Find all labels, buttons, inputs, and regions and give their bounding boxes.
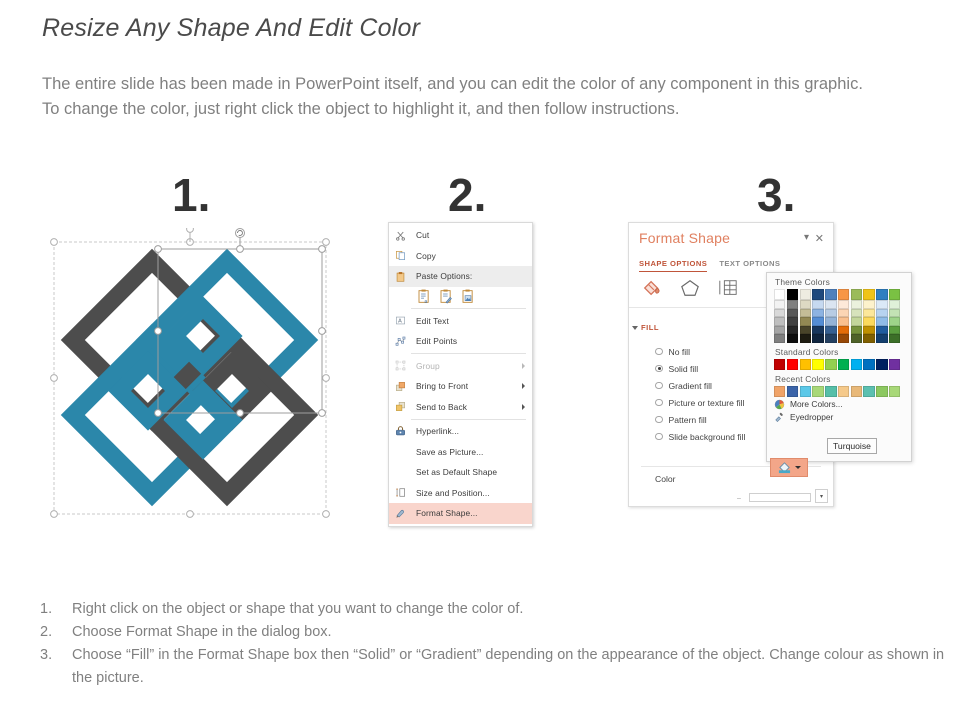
svg-text:A: A [398, 319, 402, 325]
theme-shade-0-0[interactable] [774, 300, 785, 309]
instruction-text: Choose Format Shape in the dialog box. [72, 621, 945, 644]
menu-label: Size and Position... [409, 488, 528, 498]
option-label: No fill [669, 347, 691, 357]
submenu-arrow-icon [522, 363, 525, 369]
weave-accent-top [175, 308, 232, 365]
menu-label: Edit Points [409, 336, 528, 346]
radio-picture-or-texture-fill[interactable]: Picture or texture fill [655, 394, 745, 411]
diamonds-svg [40, 228, 340, 528]
theme-swatch-4[interactable] [825, 289, 836, 300]
menu-label: Copy [409, 251, 528, 261]
menu-label: Save as Picture... [409, 447, 528, 457]
theme-shade-4-8[interactable] [876, 334, 887, 343]
menu-label: Group [409, 361, 522, 371]
theme-shade-4-6[interactable] [851, 334, 862, 343]
svg-text:a: a [424, 299, 427, 304]
instruction-item: 1. Right click on the object or shape th… [40, 598, 945, 621]
menu-label: Hyperlink... [409, 426, 528, 436]
theme-swatch-3[interactable] [812, 289, 823, 300]
menu-item-format-shape[interactable]: Format Shape... [389, 503, 532, 524]
theme-shade-3-4[interactable] [825, 326, 836, 335]
theme-shade-2-8[interactable] [876, 317, 887, 326]
intro-paragraph: The entire slide has been made in PowerP… [42, 72, 882, 122]
submenu-arrow-icon [522, 404, 525, 410]
color-tooltip: Turquoise [827, 438, 877, 454]
pane-icon-row[interactable] [641, 278, 739, 298]
more-colors-item[interactable]: More Colors... [767, 397, 911, 410]
send-back-icon [392, 400, 409, 414]
none-icon [392, 445, 409, 459]
menu-item-bring-to-front[interactable]: Bring to Front [389, 376, 532, 397]
option-label: Pattern fill [669, 415, 707, 425]
radio-icon[interactable] [655, 416, 663, 424]
weave-accent-left [120, 363, 177, 420]
theme-swatch-0[interactable] [774, 289, 785, 300]
theme-shade-row-3[interactable] [767, 326, 911, 335]
theme-shade-1-7[interactable] [863, 309, 874, 318]
theme-shade-0-6[interactable] [851, 300, 862, 309]
menu-item-edit-points[interactable]: Edit Points [389, 331, 532, 352]
theme-shade-3-1[interactable] [787, 326, 798, 335]
color-wheel-icon [774, 399, 785, 410]
standard-colors-heading: Standard Colors [767, 343, 911, 359]
theme-swatch-5[interactable] [838, 289, 849, 300]
theme-shade-4-2[interactable] [800, 334, 811, 343]
radio-no-fill[interactable]: No fill [655, 343, 745, 360]
radio-icon-selected[interactable] [655, 365, 663, 373]
theme-shade-0-9[interactable] [889, 300, 900, 309]
pentagon-effects-icon[interactable] [680, 278, 700, 298]
instruction-item: 2. Choose Format Shape in the dialog box… [40, 621, 945, 644]
weave-accent-bottom [175, 392, 232, 449]
recent-colors-row[interactable] [767, 386, 911, 397]
group-icon [392, 359, 409, 373]
outer-rotate-handle-icon[interactable] [187, 228, 194, 232]
menu-item-edit-text[interactable]: A Edit Text [389, 311, 532, 332]
slider-min-tick: – [737, 495, 741, 502]
copy-icon [392, 249, 409, 263]
radio-pattern-fill[interactable]: Pattern fill [655, 411, 745, 428]
theme-shade-1-1[interactable] [787, 309, 798, 318]
radio-icon[interactable] [655, 348, 663, 356]
standard-swatch-3[interactable] [812, 359, 823, 370]
standard-swatch-5[interactable] [838, 359, 849, 370]
theme-shade-0-1[interactable] [787, 300, 798, 309]
theme-shade-3-8[interactable] [876, 326, 887, 335]
fill-options-group[interactable]: No fill Solid fill Gradient fill Picture… [655, 343, 745, 445]
theme-colors-heading: Theme Colors [767, 273, 911, 289]
menu-label: Cut [409, 230, 528, 240]
radio-icon[interactable] [655, 399, 663, 407]
theme-shade-0-4[interactable] [825, 300, 836, 309]
theme-shade-1-4[interactable] [825, 309, 836, 318]
theme-shade-3-3[interactable] [812, 326, 823, 335]
hyperlink-icon [392, 424, 409, 438]
radio-icon[interactable] [655, 433, 663, 441]
submenu-arrow-icon [522, 383, 525, 389]
step-number-2: 2. [448, 168, 486, 222]
theme-shade-4-5[interactable] [838, 334, 849, 343]
scissors-icon [392, 228, 409, 242]
menu-separator [411, 308, 526, 309]
theme-shade-4-1[interactable] [787, 334, 798, 343]
paste-keep-source-icon[interactable]: a [417, 289, 431, 304]
option-label: Gradient fill [669, 381, 712, 391]
pane-tabs[interactable]: SHAPE OPTIONS TEXT OPTIONS [639, 259, 780, 272]
theme-shade-2-4[interactable] [825, 317, 836, 326]
step-number-3: 3. [757, 168, 795, 222]
theme-shade-1-8[interactable] [876, 309, 887, 318]
menu-item-save-as-picture[interactable]: Save as Picture... [389, 442, 532, 463]
theme-shade-1-6[interactable] [851, 309, 862, 318]
standard-swatch-2[interactable] [800, 359, 811, 370]
paste-picture-icon[interactable] [461, 289, 475, 304]
menu-item-cut[interactable]: Cut [389, 225, 532, 246]
radio-solid-fill[interactable]: Solid fill [655, 360, 745, 377]
radio-gradient-fill[interactable]: Gradient fill [655, 377, 745, 394]
collapse-triangle-icon[interactable] [632, 326, 638, 330]
color-picker-dropdown[interactable]: Theme Colors Standard Colors Recent Colo… [766, 272, 912, 462]
theme-shade-3-0[interactable] [774, 326, 785, 335]
recent-swatch-9[interactable] [889, 386, 900, 397]
theme-swatch-2[interactable] [800, 289, 811, 300]
theme-shade-3-9[interactable] [889, 326, 900, 335]
page-title: Resize Any Shape And Edit Color [42, 14, 420, 43]
menu-item-group[interactable]: Group [389, 356, 532, 377]
eyedropper-icon [774, 412, 785, 423]
menu-label: Edit Text [409, 316, 528, 326]
recent-colors-heading: Recent Colors [767, 370, 911, 386]
bring-front-icon [392, 379, 409, 393]
menu-item-set-as-default-shape[interactable]: Set as Default Shape [389, 462, 532, 483]
menu-item-send-to-back[interactable]: Send to Back [389, 397, 532, 418]
instruction-text: Right click on the object or shape that … [72, 598, 945, 621]
option-label: Slide background fill [669, 432, 746, 442]
menu-label: Bring to Front [409, 381, 522, 391]
theme-shade-1-5[interactable] [838, 309, 849, 318]
step-number-1: 1. [172, 168, 210, 222]
standard-swatch-1[interactable] [787, 359, 798, 370]
theme-shade-row-0[interactable] [767, 300, 911, 309]
eyedropper-item[interactable]: Eyedropper [767, 410, 911, 423]
menu-separator [411, 419, 526, 420]
recent-swatch-2[interactable] [800, 386, 811, 397]
standard-colors-row[interactable] [767, 359, 911, 370]
standard-swatch-6[interactable] [851, 359, 862, 370]
interlocking-diamonds-diagram[interactable] [40, 228, 340, 528]
instruction-index: 1. [40, 598, 72, 621]
clipboard-icon [392, 269, 409, 283]
size-position-icon [392, 486, 409, 500]
radio-icon[interactable] [655, 382, 663, 390]
more-colors-label: More Colors... [790, 399, 843, 409]
transparency-slider[interactable] [749, 493, 811, 502]
color-label: Color [655, 474, 676, 484]
tab-text-options[interactable]: TEXT OPTIONS [719, 259, 780, 272]
standard-swatch-0[interactable] [774, 359, 785, 370]
theme-shade-2-0[interactable] [774, 317, 785, 326]
recent-swatch-5[interactable] [838, 386, 849, 397]
standard-swatch-7[interactable] [863, 359, 874, 370]
recent-swatch-3[interactable] [812, 386, 823, 397]
theme-shade-0-8[interactable] [876, 300, 887, 309]
paste-options-row[interactable]: a [389, 287, 532, 307]
menu-item-hyperlink[interactable]: Hyperlink... [389, 421, 532, 442]
theme-swatch-7[interactable] [863, 289, 874, 300]
theme-shade-2-1[interactable] [787, 317, 798, 326]
standard-swatch-8[interactable] [876, 359, 887, 370]
paste-merge-icon[interactable] [439, 289, 453, 304]
option-label: Picture or texture fill [669, 398, 745, 408]
section-fill-label: FILL [641, 323, 659, 332]
menu-separator [411, 353, 526, 354]
fill-bucket-icon[interactable] [641, 278, 663, 298]
theme-shade-4-3[interactable] [812, 334, 823, 343]
recent-swatch-1[interactable] [787, 386, 798, 397]
instruction-text: Choose “Fill” in the Format Shape box th… [72, 644, 945, 690]
eyedropper-label: Eyedropper [790, 412, 833, 422]
theme-shade-0-2[interactable] [800, 300, 811, 309]
size-properties-icon[interactable] [717, 278, 739, 298]
format-shape-icon [392, 506, 409, 520]
theme-colors-top-row[interactable] [767, 289, 911, 300]
instruction-item: 3. Choose “Fill” in the Format Shape box… [40, 644, 945, 690]
theme-shade-2-3[interactable] [812, 317, 823, 326]
theme-shade-0-5[interactable] [838, 300, 849, 309]
theme-shade-1-2[interactable] [800, 309, 811, 318]
theme-shade-row-2[interactable] [767, 317, 911, 326]
standard-swatch-4[interactable] [825, 359, 836, 370]
radio-slide-background-fill[interactable]: Slide background fill [655, 428, 745, 445]
recent-swatch-4[interactable] [825, 386, 836, 397]
standard-swatch-9[interactable] [889, 359, 900, 370]
pane-title: Format Shape [639, 230, 730, 246]
recent-swatch-6[interactable] [851, 386, 862, 397]
theme-shade-3-2[interactable] [800, 326, 811, 335]
theme-shade-2-5[interactable] [838, 317, 849, 326]
menu-item-copy[interactable]: Copy [389, 246, 532, 267]
theme-shade-row-1[interactable] [767, 309, 911, 318]
theme-shade-2-9[interactable] [889, 317, 900, 326]
theme-swatch-9[interactable] [889, 289, 900, 300]
menu-label: Send to Back [409, 402, 522, 412]
theme-shade-row-4[interactable] [767, 334, 911, 343]
theme-shade-4-9[interactable] [889, 334, 900, 343]
theme-shade-3-5[interactable] [838, 326, 849, 335]
recent-swatch-0[interactable] [774, 386, 785, 397]
edit-text-icon: A [392, 314, 409, 328]
dropdown-arrow-icon[interactable] [795, 466, 801, 469]
theme-shade-3-7[interactable] [863, 326, 874, 335]
theme-shade-0-3[interactable] [812, 300, 823, 309]
instruction-index: 3. [40, 644, 72, 690]
menu-item-size-and-position[interactable]: Size and Position... [389, 483, 532, 504]
theme-shade-4-4[interactable] [825, 334, 836, 343]
color-picker-button[interactable] [770, 458, 808, 477]
theme-shade-4-7[interactable] [863, 334, 874, 343]
menu-label: Paste Options: [409, 271, 528, 281]
fill-color-swatch-icon [777, 461, 792, 474]
theme-swatch-1[interactable] [787, 289, 798, 300]
menu-label: Format Shape... [409, 508, 528, 518]
theme-swatch-8[interactable] [876, 289, 887, 300]
close-icon[interactable]: ✕ [815, 232, 824, 245]
theme-shade-2-7[interactable] [863, 317, 874, 326]
chevron-down-icon[interactable]: ▾ [804, 232, 809, 243]
instructions-list: 1. Right click on the object or shape th… [40, 598, 945, 690]
spinner-stepper[interactable]: ▾ [815, 489, 828, 503]
theme-swatch-6[interactable] [851, 289, 862, 300]
recent-swatch-7[interactable] [863, 386, 874, 397]
menu-item-paste-options[interactable]: Paste Options: [389, 266, 532, 287]
theme-shade-2-6[interactable] [851, 317, 862, 326]
theme-shade-3-6[interactable] [851, 326, 862, 335]
edit-points-icon [392, 334, 409, 348]
rotate-handle-icon[interactable] [236, 229, 245, 238]
theme-shade-1-0[interactable] [774, 309, 785, 318]
theme-shade-0-7[interactable] [863, 300, 874, 309]
menu-label: Set as Default Shape [409, 467, 528, 477]
theme-shade-4-0[interactable] [774, 334, 785, 343]
theme-shade-1-9[interactable] [889, 309, 900, 318]
tab-shape-options[interactable]: SHAPE OPTIONS [639, 259, 707, 272]
theme-shade-1-3[interactable] [812, 309, 823, 318]
theme-shade-2-2[interactable] [800, 317, 811, 326]
option-label: Solid fill [669, 364, 699, 374]
instruction-index: 2. [40, 621, 72, 644]
none-icon [392, 465, 409, 479]
context-menu[interactable]: Cut Copy Paste Options: a A Edit Text [388, 222, 533, 527]
theme-colors-shade-rows[interactable] [767, 300, 911, 343]
recent-swatch-8[interactable] [876, 386, 887, 397]
